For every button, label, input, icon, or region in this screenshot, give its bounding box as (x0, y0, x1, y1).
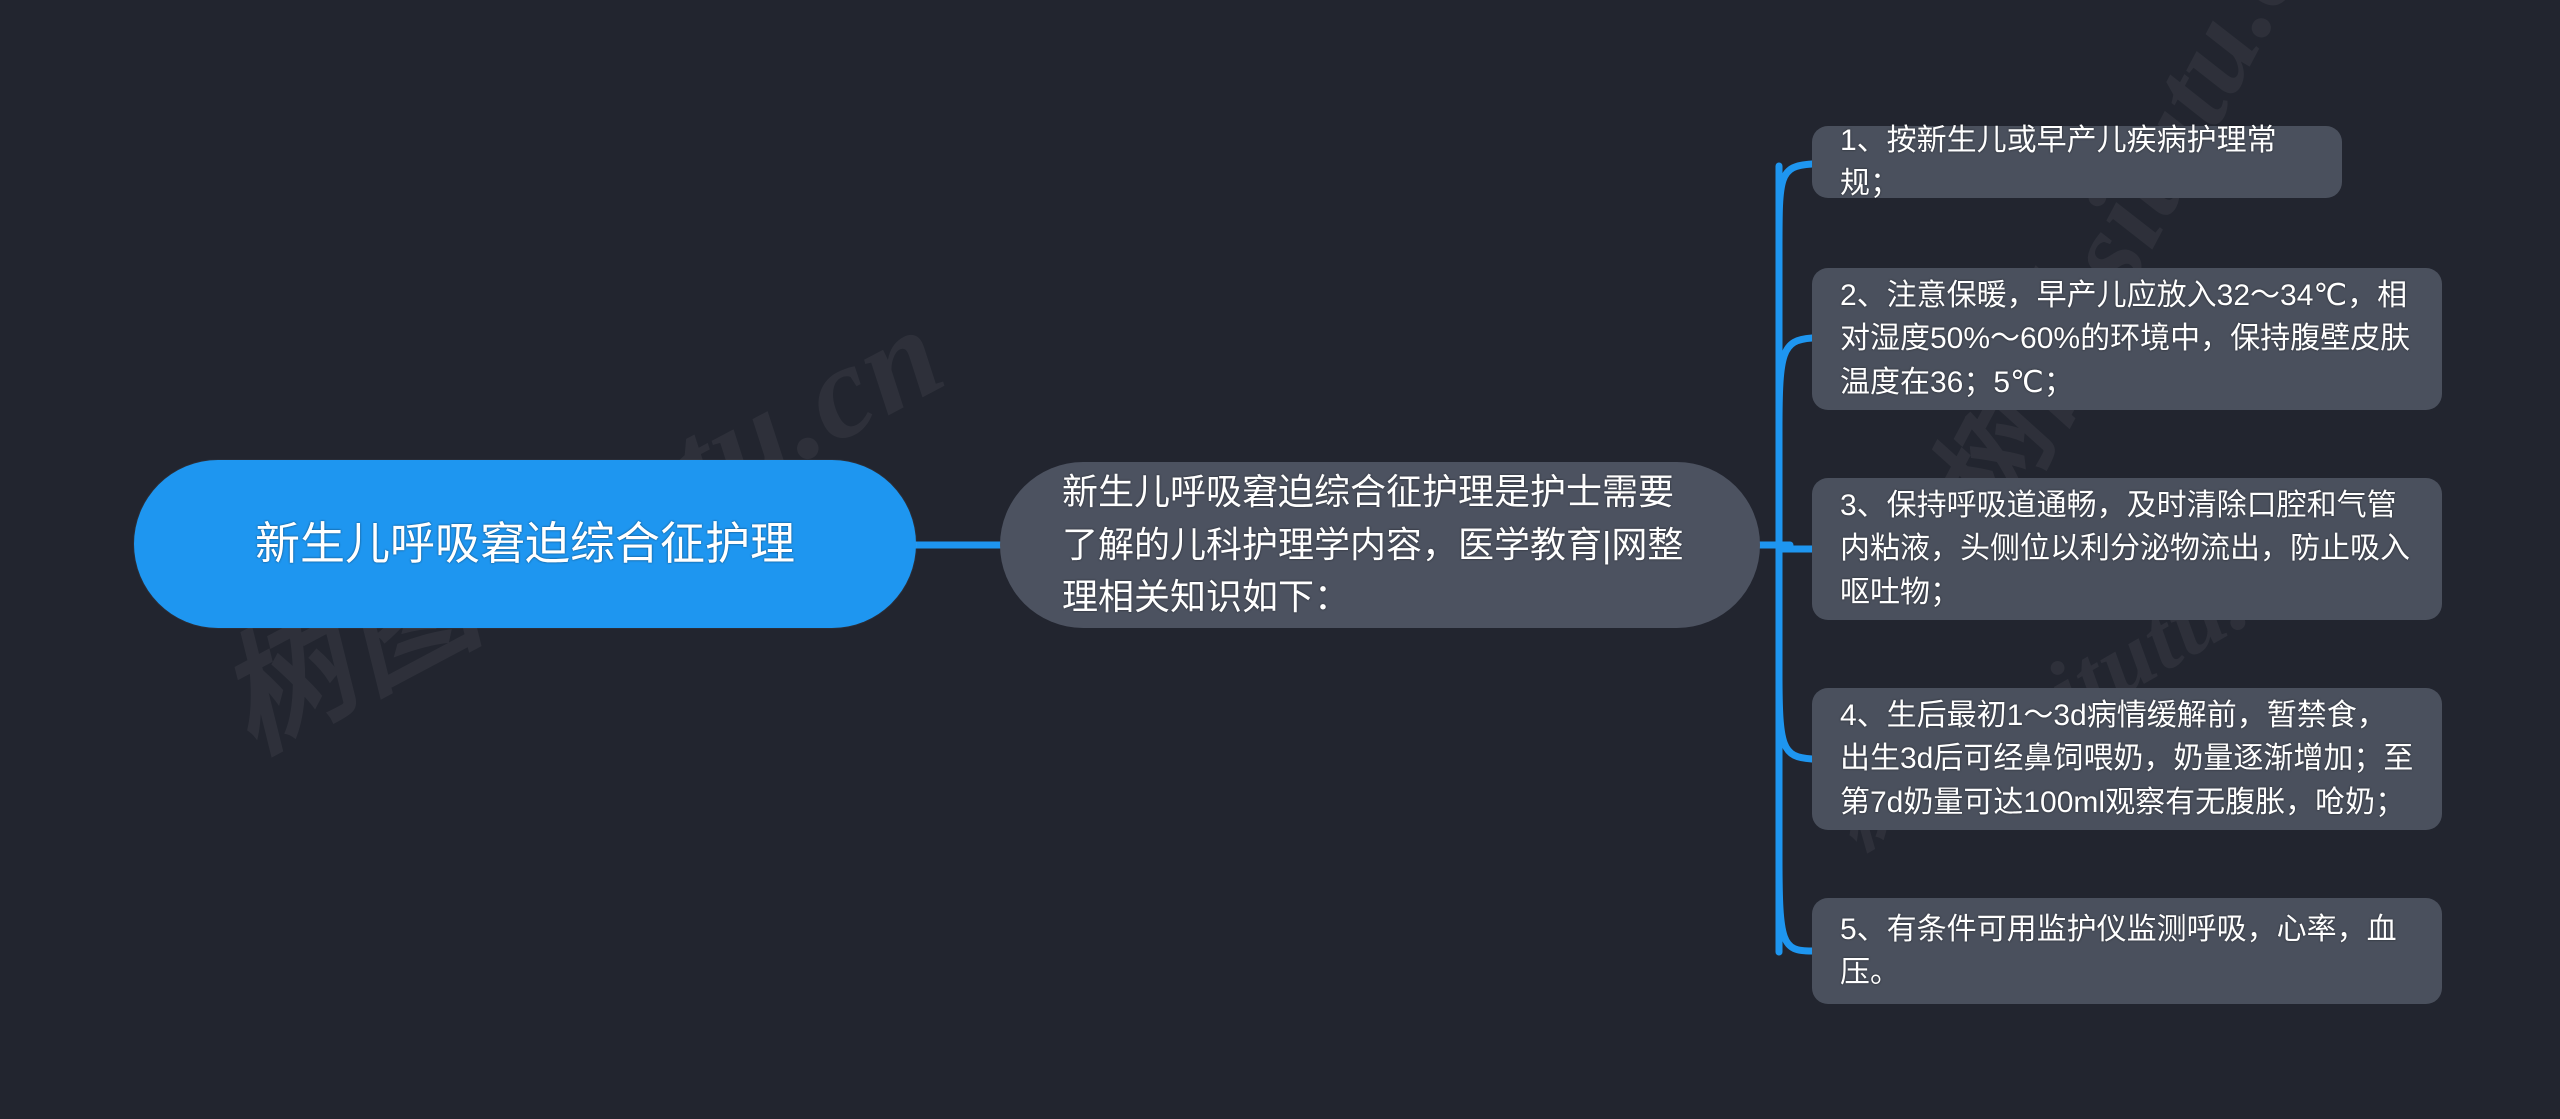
branch-node[interactable]: 新生儿呼吸窘迫综合征护理是护士需要了解的儿科护理学内容，医学教育|网整理相关知识… (1000, 462, 1760, 628)
leaf-node-1-label: 1、按新生儿或早产儿疾病护理常规； (1840, 119, 2316, 205)
root-node[interactable]: 新生儿呼吸窘迫综合征护理 (134, 460, 916, 628)
leaf-node-1[interactable]: 1、按新生儿或早产儿疾病护理常规； (1812, 126, 2342, 198)
leaf-node-3-label: 3、保持呼吸道通畅，及时清除口腔和气管内粘液，头侧位以利分泌物流出，防止吸入呕吐… (1840, 484, 2416, 614)
leaf-node-2-label: 2、注意保暖，早产儿应放入32～34℃，相对湿度50%～60%的环境中，保持腹壁… (1840, 274, 2416, 404)
connector-trunk-to-leaf-5 (1779, 856, 1812, 951)
leaf-node-5[interactable]: 5、有条件可用监护仪监测呼吸，心率，血压。 (1812, 898, 2442, 1004)
mindmap-canvas: 树图 situtu.cn 树图 situtu.cn 树图 situtu.cn 新… (0, 0, 2560, 1119)
root-node-label: 新生儿呼吸窘迫综合征护理 (188, 511, 862, 576)
leaf-node-3[interactable]: 3、保持呼吸道通畅，及时清除口腔和气管内粘液，头侧位以利分泌物流出，防止吸入呕吐… (1812, 478, 2442, 620)
branch-node-label: 新生儿呼吸窘迫综合征护理是护士需要了解的儿科护理学内容，医学教育|网整理相关知识… (1062, 466, 1704, 624)
leaf-node-4[interactable]: 4、生后最初1～3d病情缓解前，暂禁食，出生3d后可经鼻饲喂奶，奶量逐渐增加；至… (1812, 688, 2442, 830)
connector-trunk-to-leaf-1 (1779, 164, 1812, 250)
leaf-node-4-label: 4、生后最初1～3d病情缓解前，暂禁食，出生3d后可经鼻饲喂奶，奶量逐渐增加；至… (1840, 694, 2416, 824)
connector-trunk-to-leaf-4 (1779, 672, 1812, 759)
leaf-node-5-label: 5、有条件可用监护仪监测呼吸，心率，血压。 (1840, 908, 2416, 994)
leaf-node-2[interactable]: 2、注意保暖，早产儿应放入32～34℃，相对湿度50%～60%的环境中，保持腹壁… (1812, 268, 2442, 410)
connector-trunk-to-leaf-2 (1779, 338, 1812, 430)
